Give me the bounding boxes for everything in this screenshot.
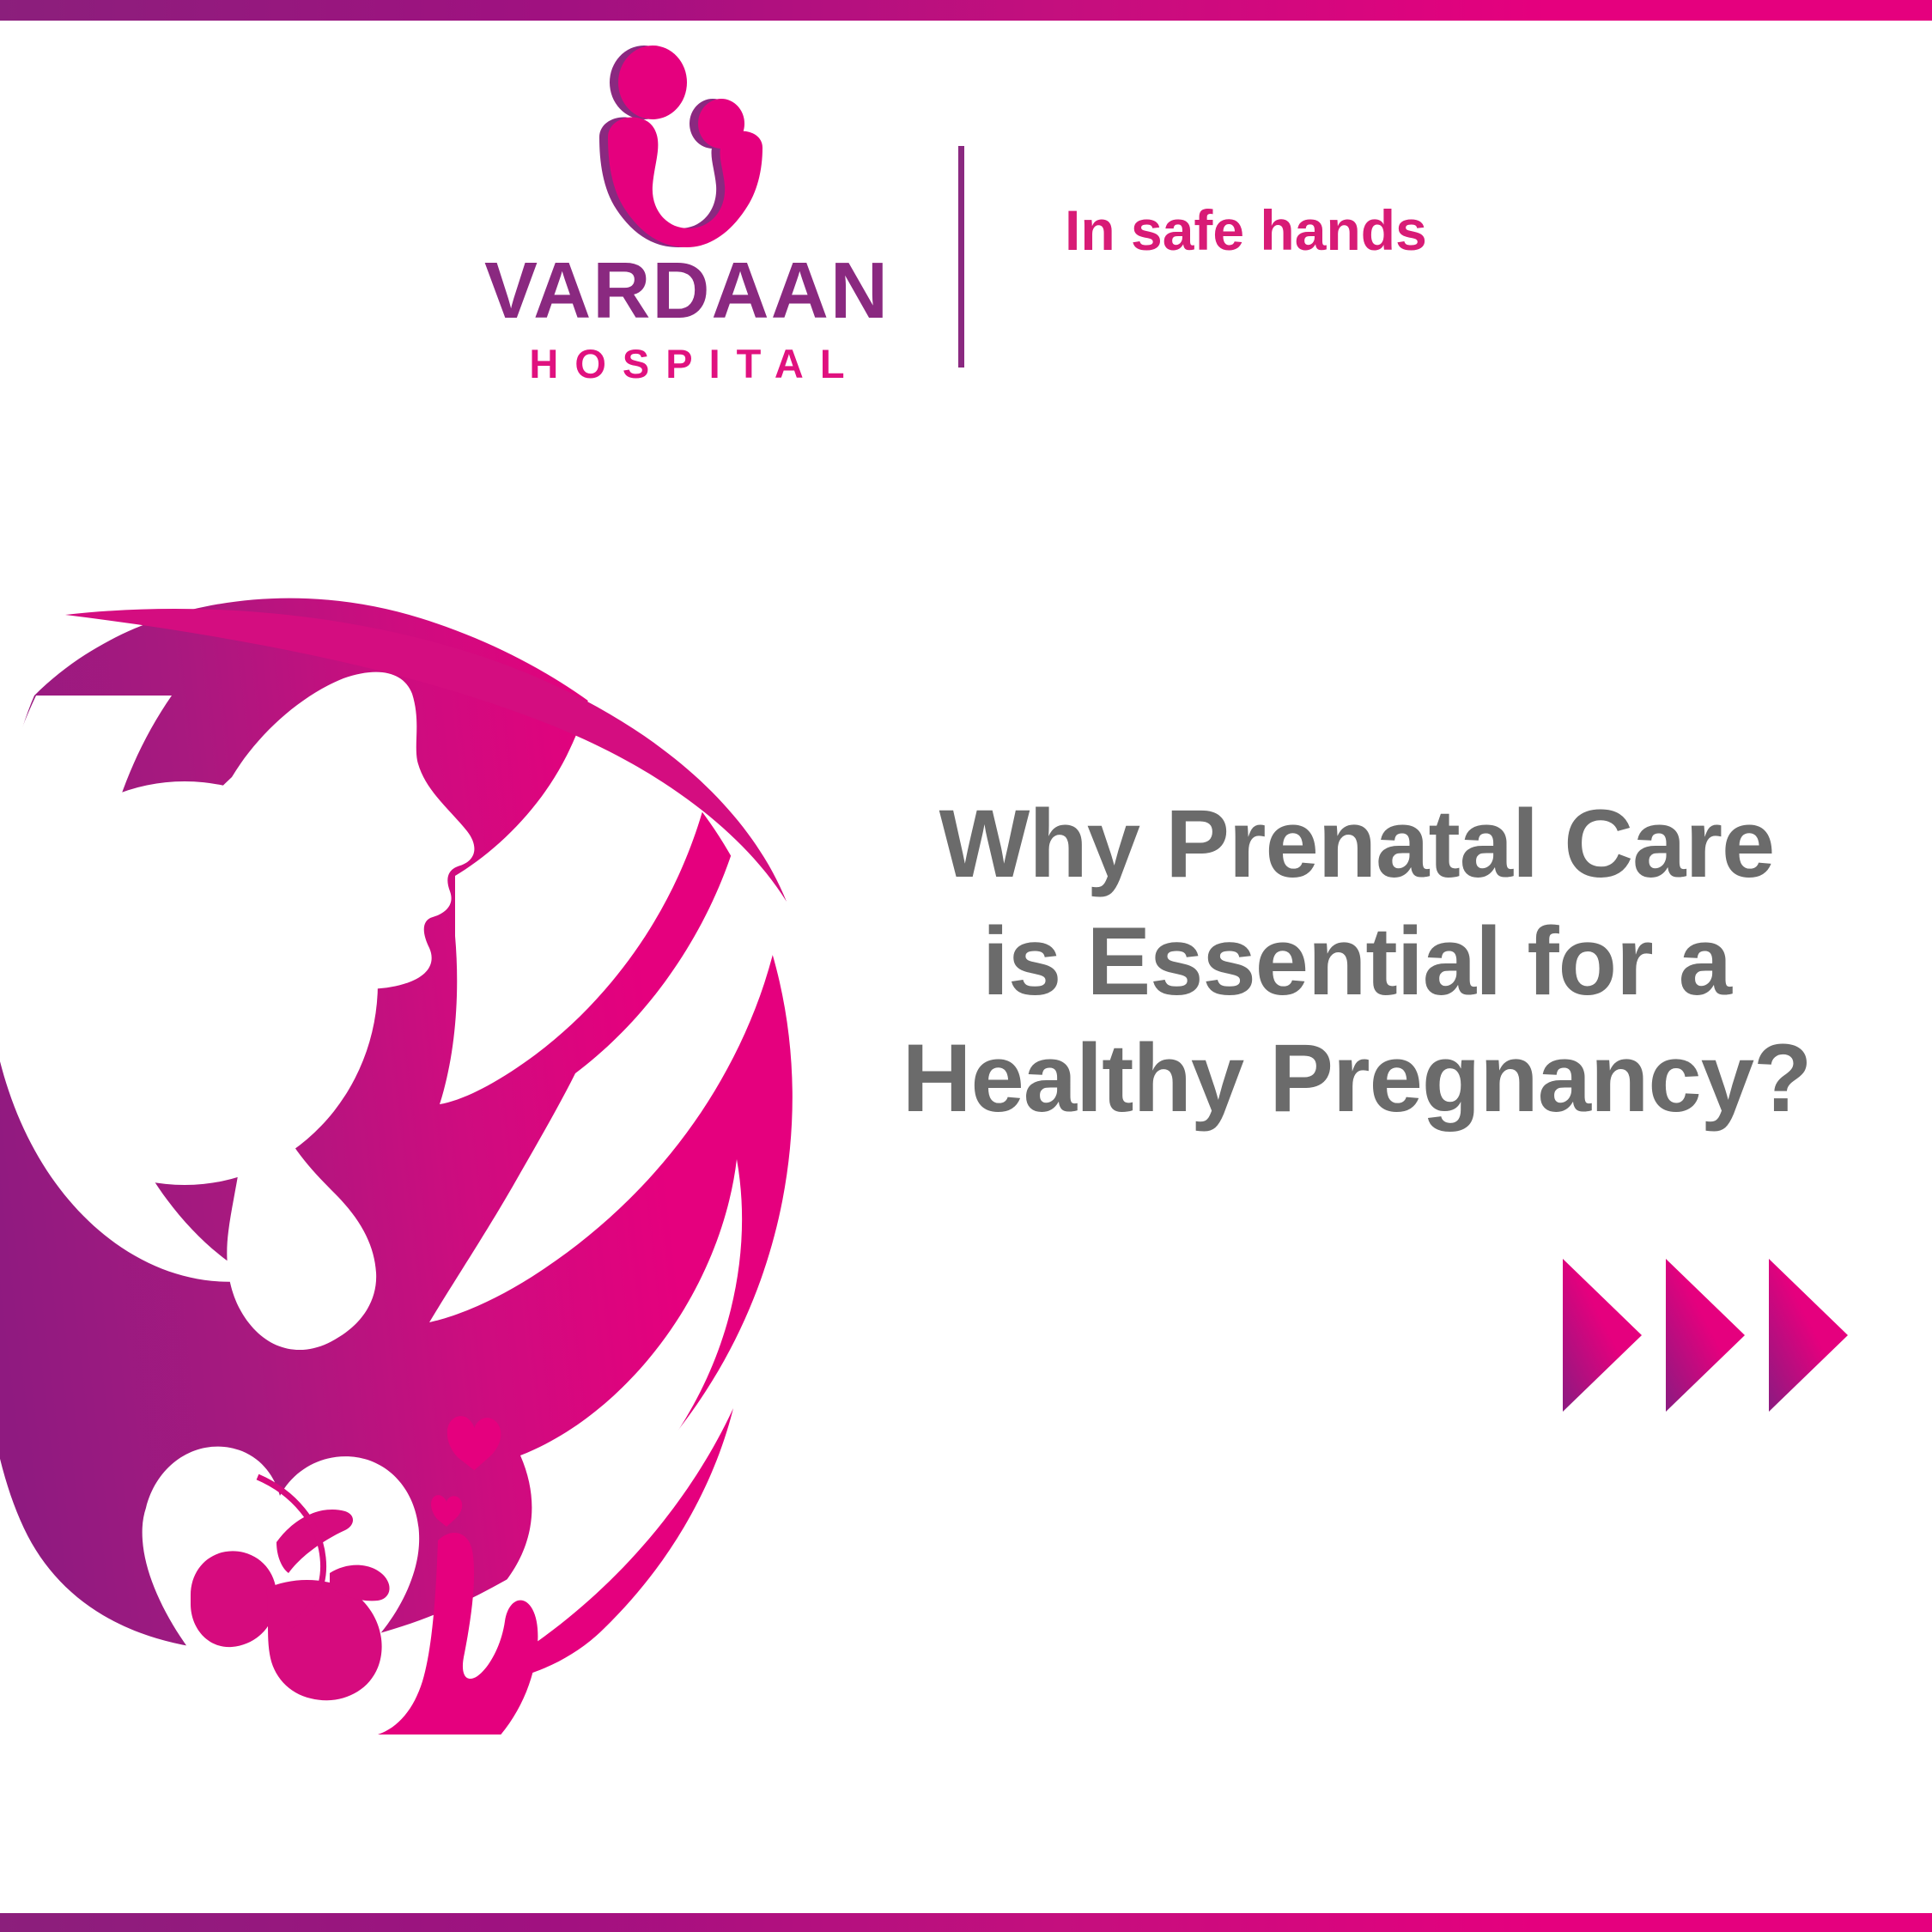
headline-line-2: is Essential for a [799,903,1915,1021]
brand-divider [958,146,964,368]
headline-line-1: Why Prenatal Care [799,786,1915,903]
page-title: Why Prenatal Care is Essential for a Hea… [799,786,1915,1138]
brand-header: VARDAAN HOSPITAL In safe hands [0,34,1932,361]
bottom-accent-bar [0,1913,1932,1932]
chevron-right-icon-2[interactable] [1666,1259,1745,1412]
logo-block: VARDAAN HOSPITAL [481,34,893,361]
chevron-right-icon-1[interactable] [1563,1259,1642,1412]
pregnant-woman-silhouette [0,592,816,1735]
brand-name: VARDAAN [481,251,893,331]
brand-sub: HOSPITAL [481,343,893,384]
mother-and-child-logo-mark [555,41,812,256]
headline-line-3: Healthy Pregnancy? [799,1020,1915,1138]
top-accent-bar [0,0,1932,21]
swipe-chevrons[interactable] [1563,1254,1872,1417]
poster-canvas: VARDAAN HOSPITAL In safe hands [0,0,1932,1932]
chevron-right-icon-3[interactable] [1769,1259,1848,1412]
brand-tagline: In safe hands [1065,197,1427,263]
silhouette-body [0,598,793,1652]
